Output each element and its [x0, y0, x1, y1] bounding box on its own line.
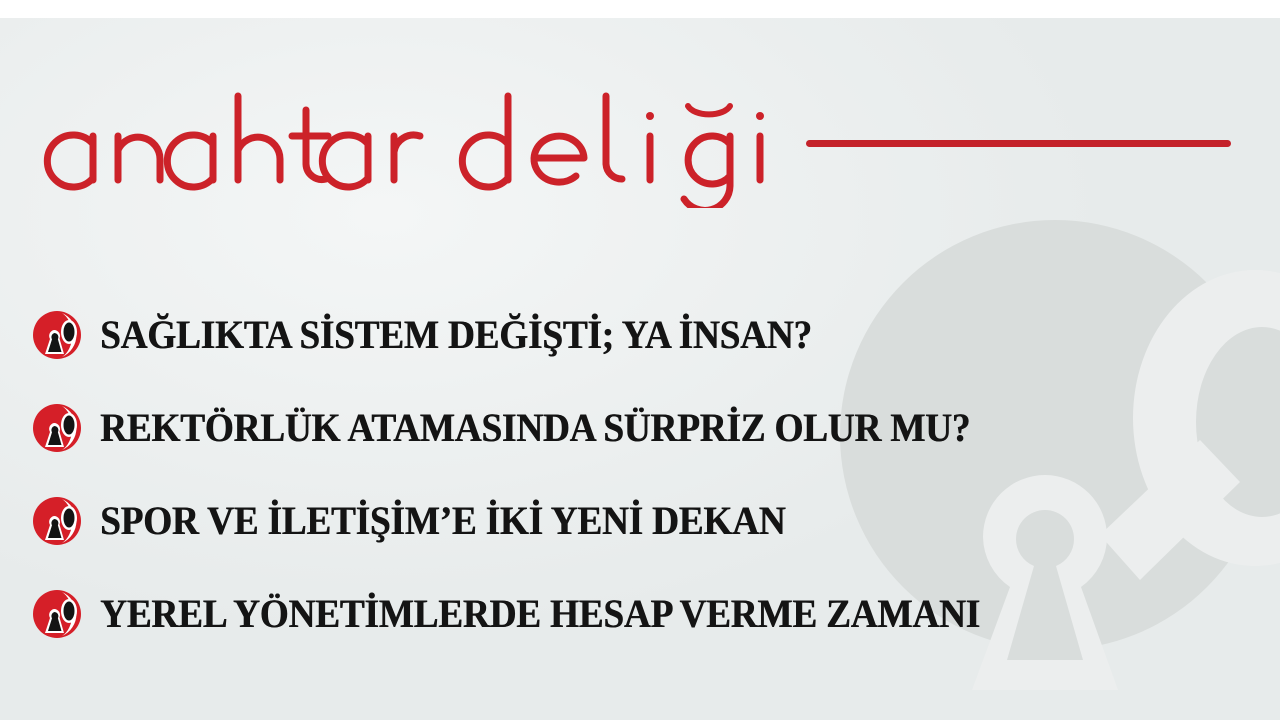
headline-item-2[interactable]: REKTÖRLÜK ATAMASINDA SÜRPRİZ OLUR MU? [0, 381, 1280, 474]
keyhole-bullet-icon [32, 494, 86, 548]
top-white-band [0, 0, 1280, 18]
headline-item-3[interactable]: SPOR VE İLETİŞİM’E İKİ YENİ DEKAN [0, 474, 1280, 567]
brand-logo: anahtar deliği [38, 88, 798, 208]
keyhole-bullet-icon [32, 308, 86, 362]
headline-text: YEREL YÖNETİMLERDE HESAP VERME ZAMANI [100, 594, 980, 634]
headline-text: REKTÖRLÜK ATAMASINDA SÜRPRİZ OLUR MU? [100, 408, 970, 448]
headline-item-1[interactable]: SAĞLIKTA SİSTEM DEĞİŞTİ; YA İNSAN? [0, 288, 1280, 381]
headline-text: SPOR VE İLETİŞİM’E İKİ YENİ DEKAN [100, 501, 785, 541]
headline-item-4[interactable]: YEREL YÖNETİMLERDE HESAP VERME ZAMANI [0, 567, 1280, 660]
slide-canvas: anahtar deliği [0, 0, 1280, 720]
headline-text: SAĞLIKTA SİSTEM DEĞİŞTİ; YA İNSAN? [100, 315, 812, 355]
headline-list: SAĞLIKTA SİSTEM DEĞİŞTİ; YA İNSAN? REKTÖ… [0, 288, 1280, 660]
header-rule [806, 140, 1231, 147]
keyhole-bullet-icon [32, 401, 86, 455]
keyhole-bullet-icon [32, 587, 86, 641]
brand-logo-wordmark: anahtar deliği [38, 88, 798, 208]
